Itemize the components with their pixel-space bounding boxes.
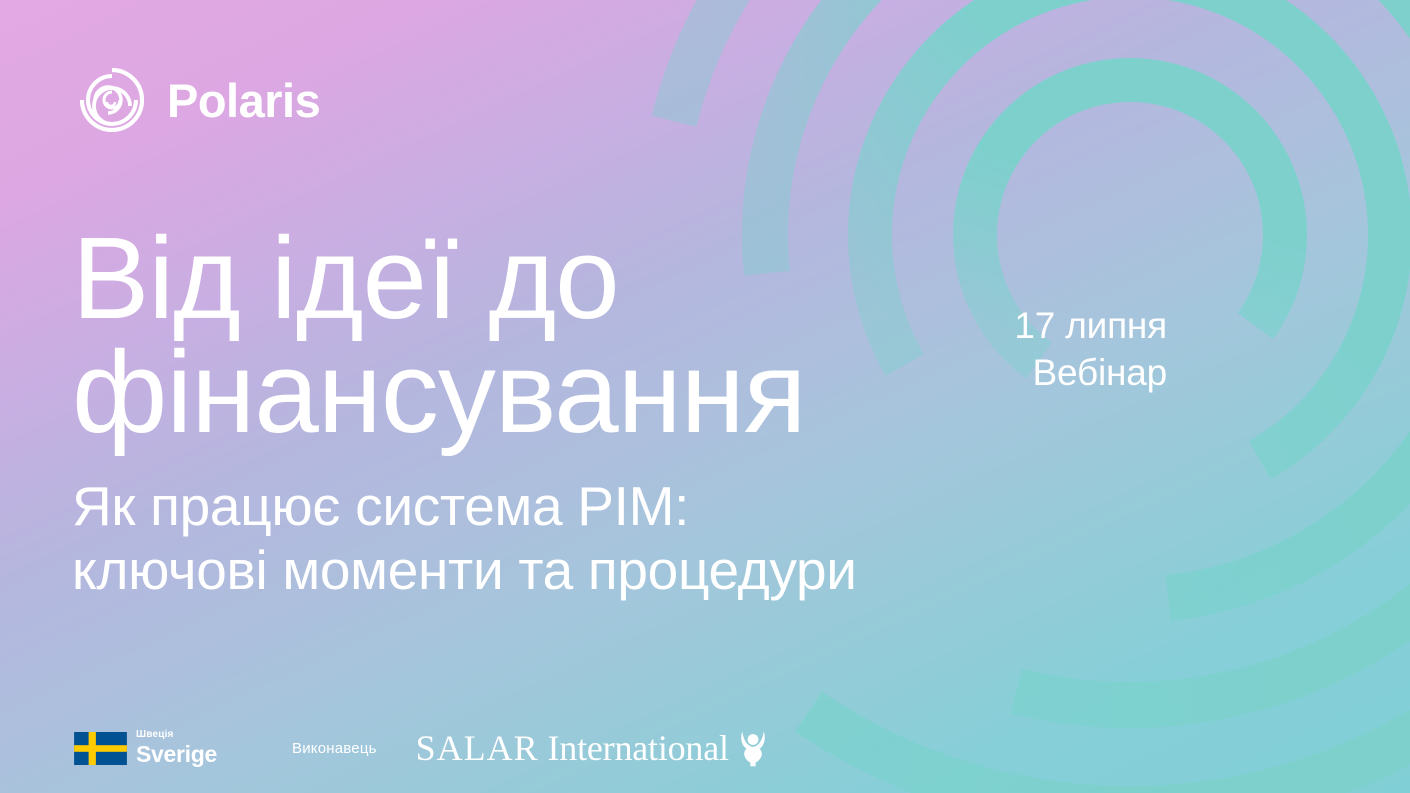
sweden-label-sv: Sverige [136,743,217,766]
footer-logos: Швеція Sverige Виконавець SALAR Internat… [74,729,768,767]
salar-wordmark: SALAR International [416,730,729,766]
sweden-logo: Швеція Sverige [74,730,217,766]
sweden-wordmark: Швеція Sverige [136,730,217,766]
salar-name-caps: SALAR [416,728,539,768]
webinar-title-slide: Polaris Від ідеї до фінансування Як прац… [0,0,1410,793]
event-format: Вебінар [1014,350,1167,397]
headline-block: Від ідеї до фінансування Як працює систе… [72,222,952,603]
brand-name: Polaris [167,77,320,124]
sweden-flag-icon [74,732,127,765]
salar-name-rest: International [539,728,729,768]
sweden-label-uk: Швеція [136,730,217,740]
page-subtitle: Як працює система PIM: ключові моменти т… [72,475,952,603]
concentric-spiral-icon [74,62,150,138]
salar-logo: SALAR International [416,729,768,767]
brand-lockup: Polaris [74,62,320,138]
executor-label: Виконавець [292,740,377,757]
salar-figure-icon [738,729,768,767]
event-date: 17 липня [1014,303,1167,350]
page-title: Від ідеї до фінансування [72,222,952,449]
event-meta: 17 липня Вебінар [1014,303,1167,397]
